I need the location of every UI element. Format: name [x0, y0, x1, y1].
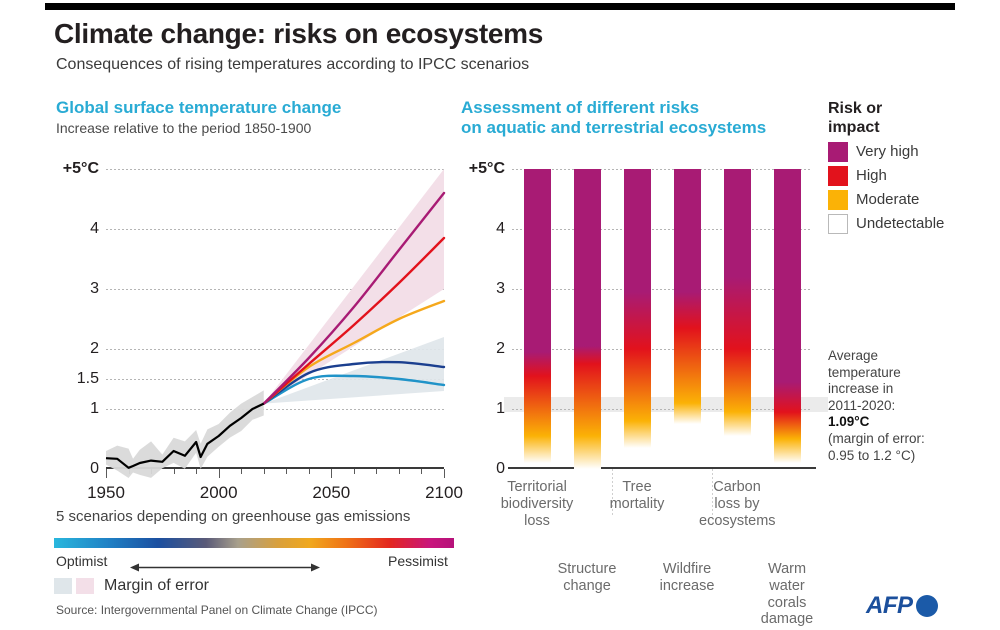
risk-y-axis-label: 1 — [496, 400, 505, 418]
legend-title-line2: impact — [828, 119, 993, 138]
margin-swatch-pink — [76, 578, 94, 594]
afp-logo: AFP — [866, 592, 938, 620]
legend-items: Very highHighModerateUndetectable — [828, 142, 993, 234]
page-title: Climate change: risks on ecosystems — [54, 18, 543, 50]
x-axis-tick — [106, 469, 107, 478]
x-axis-tick — [219, 469, 220, 478]
y-axis-label: 2 — [90, 340, 99, 358]
risk-legend: Risk or impact Very highHighModerateUnde… — [828, 100, 993, 234]
legend-item: Undetectable — [828, 214, 993, 234]
risk-bar — [574, 169, 601, 469]
note-line1: Average — [828, 348, 996, 365]
note-line3: increase in — [828, 381, 996, 398]
risk-bar — [674, 169, 701, 424]
legend-item-label: Very high — [856, 143, 919, 160]
risk-category-label: Warm water corals damage — [749, 561, 825, 628]
left-panel-subheading: Increase relative to the period 1850-190… — [56, 120, 311, 136]
margin-swatch-blue — [54, 578, 72, 594]
bar-plot-area: 01234+5°CTerritorial biodiversity lossSt… — [512, 169, 812, 469]
legend-item: Moderate — [828, 190, 993, 210]
gridline — [512, 349, 812, 350]
legend-item-label: Undetectable — [856, 215, 944, 232]
y-axis-label: +5°C — [63, 160, 99, 178]
x-axis-tick — [421, 469, 422, 474]
top-rule — [45, 3, 955, 10]
page-subtitle: Consequences of rising temperatures acco… — [56, 56, 529, 74]
scenario-gradient-bar — [54, 538, 454, 548]
legend-color-swatch — [828, 166, 848, 186]
gridline — [512, 229, 812, 230]
x-axis-tick — [286, 469, 287, 474]
x-axis-tick — [196, 469, 197, 474]
x-axis-label: 2000 — [200, 483, 238, 503]
afp-wordmark: AFP — [866, 592, 913, 620]
left-panel-heading: Global surface temperature change — [56, 98, 341, 118]
x-axis-tick — [309, 469, 310, 474]
legend-color-swatch — [828, 142, 848, 162]
x-axis-tick — [376, 469, 377, 474]
y-axis-label: 4 — [90, 220, 99, 238]
x-axis-label: 2100 — [425, 483, 463, 503]
margin-of-error-label: Margin of error — [104, 577, 209, 595]
legend-item-label: High — [856, 167, 887, 184]
risk-category-label: Tree mortality — [599, 479, 675, 513]
risk-y-axis-label: 3 — [496, 280, 505, 298]
note-line6: 0.95 to 1.2 °C) — [828, 448, 996, 465]
x-axis-tick — [444, 469, 445, 478]
x-axis-tick — [399, 469, 400, 474]
risk-bar — [524, 169, 551, 463]
legend-color-swatch — [828, 190, 848, 210]
risk-y-axis-label: 2 — [496, 340, 505, 358]
risk-bar — [724, 169, 751, 436]
risk-bar — [774, 169, 801, 463]
risk-y-axis-label: 4 — [496, 220, 505, 238]
average-increase-note: Average temperature increase in 2011-202… — [828, 348, 996, 464]
line-plot-area: 011.5234+5°C1950200020502100 — [106, 169, 444, 469]
risk-category-label: Territorial biodiversity loss — [499, 479, 575, 529]
risk-bar-chart: 01234+5°CTerritorial biodiversity lossSt… — [460, 155, 825, 470]
margin-of-error-legend: Margin of error — [54, 577, 209, 595]
legend-title-line1: Risk or — [828, 100, 993, 119]
x-axis-label: 2050 — [312, 483, 350, 503]
legend-item: High — [828, 166, 993, 186]
risk-y-axis-label: +5°C — [469, 160, 505, 178]
x-axis-tick — [354, 469, 355, 474]
legend-color-swatch — [828, 214, 848, 234]
x-axis-tick — [331, 469, 332, 478]
pessimist-label: Pessimist — [388, 553, 448, 569]
legend-item-label: Moderate — [856, 191, 919, 208]
x-axis-tick — [241, 469, 242, 474]
line-series-svg — [106, 169, 444, 469]
note-line4: 2011-2020: — [828, 398, 996, 415]
note-line2: temperature — [828, 365, 996, 382]
gridline — [512, 169, 812, 170]
risk-category-label: Carbon loss by ecosystems — [699, 479, 775, 529]
source-note: Source: Intergovernmental Panel on Clima… — [56, 603, 378, 617]
legend-title: Risk or impact — [828, 100, 993, 138]
note-line5: (margin of error: — [828, 431, 996, 448]
right-panel-heading: Assessment of different risks on aquatic… — [461, 98, 766, 138]
scenarios-caption: 5 scenarios depending on greenhouse gas … — [56, 508, 410, 525]
note-value: 1.09°C — [828, 414, 869, 429]
x-axis-tick — [174, 469, 175, 474]
optimist-label: Optimist — [56, 553, 107, 569]
x-axis-label: 1950 — [87, 483, 125, 503]
temperature-line-chart: 011.5234+5°C1950200020502100 — [48, 155, 460, 470]
afp-dot-icon — [916, 595, 938, 617]
gridline — [512, 289, 812, 290]
y-axis-label: 0 — [90, 460, 99, 478]
right-heading-line2: on aquatic and terrestrial ecosystems — [461, 118, 766, 138]
gridline — [512, 409, 812, 410]
y-axis-label: 1 — [90, 400, 99, 418]
risk-category-label: Wildfire increase — [649, 561, 725, 595]
risk-x-axis — [508, 467, 816, 469]
y-axis-label: 1.5 — [77, 370, 99, 388]
legend-item: Very high — [828, 142, 993, 162]
optimist-pessimist-arrow — [130, 562, 320, 573]
risk-y-axis-label: 0 — [496, 460, 505, 478]
y-axis-label: 3 — [90, 280, 99, 298]
risk-category-label: Structure change — [549, 561, 625, 595]
right-heading-line1: Assessment of different risks — [461, 98, 766, 118]
risk-bar — [624, 169, 651, 448]
x-axis-tick — [264, 469, 265, 474]
